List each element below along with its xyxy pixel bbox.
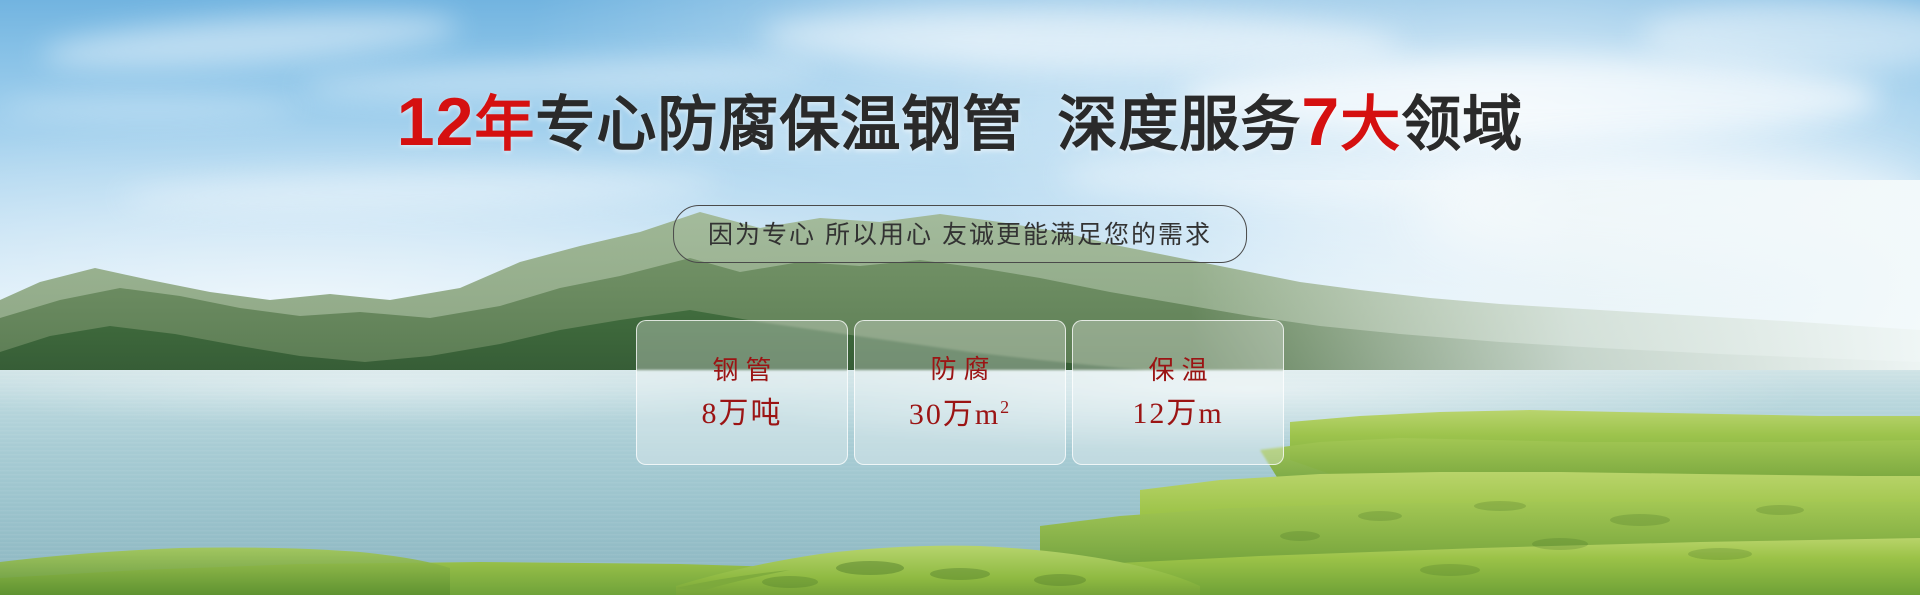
headline-fields-unit: 大	[1340, 91, 1401, 158]
headline-fields-text: 领域	[1401, 91, 1523, 158]
stat-value: 8万吨	[702, 399, 783, 429]
stat-value: 12万m	[1132, 399, 1223, 429]
stat-value-superscript: 2	[1000, 397, 1011, 417]
headline-years-number: 12	[397, 84, 475, 160]
stat-label: 钢管	[705, 357, 778, 383]
stat-value: 30万m2	[909, 398, 1011, 430]
headline-main-text: 专心防腐保温钢管	[535, 91, 1023, 158]
headline-years-unit: 年	[474, 91, 535, 158]
stat-label: 防腐	[923, 356, 996, 382]
stat-value-main: 12万m	[1132, 397, 1223, 430]
stat-label: 保温	[1141, 357, 1214, 383]
stat-card-group: 钢管 8万吨 防腐 30万m2 保温 12万m	[636, 320, 1284, 465]
banner-subtitle-pill: 因为专心 所以用心 友诚更能满足您的需求	[673, 205, 1247, 263]
stat-value-main: 8万吨	[702, 397, 783, 430]
hero-banner: 12年专心防腐保温钢管深度服务7大领域 因为专心 所以用心 友诚更能满足您的需求…	[0, 0, 1920, 595]
stat-card-insulation[interactable]: 保温 12万m	[1072, 320, 1284, 465]
stat-card-anticorrosion[interactable]: 防腐 30万m2	[854, 320, 1066, 465]
banner-headline: 12年专心防腐保温钢管深度服务7大领域	[0, 88, 1920, 156]
headline-service-text: 深度服务	[1057, 91, 1301, 158]
stat-card-steel-pipe[interactable]: 钢管 8万吨	[636, 320, 848, 465]
stat-value-main: 30万m	[909, 398, 1000, 431]
headline-fields-number: 7	[1301, 84, 1340, 160]
